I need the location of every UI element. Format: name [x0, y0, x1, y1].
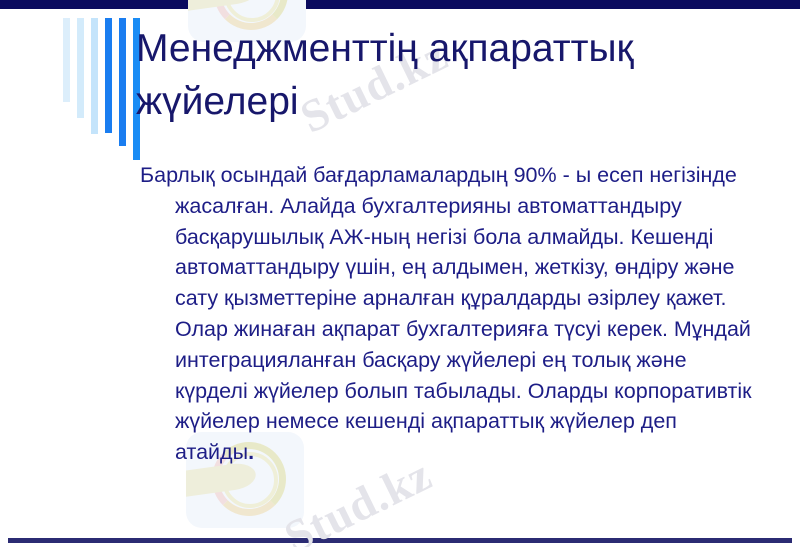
bottom-divider-rule: [8, 538, 792, 543]
body-paragraph: Барлық осындай бағдарламалардың 90% - ы …: [140, 160, 760, 468]
slide-canvas: Stud.kz Stud.kz Stud.kz Менеджменттің ақ…: [0, 0, 800, 547]
slide-body: Барлық осындай бағдарламалардың 90% - ы …: [140, 160, 760, 468]
decor-bar-3: [91, 18, 98, 134]
body-paragraph-text: Барлық осындай бағдарламалардың 90% - ы …: [140, 163, 752, 464]
title-line-1: Менеджменттің ақпараттық: [136, 22, 776, 75]
decor-bar-1: [63, 18, 70, 102]
decor-bar-4: [105, 18, 112, 133]
slide-title: Менеджменттің ақпараттық жүйелері: [136, 22, 776, 128]
decor-bar-2: [77, 18, 84, 118]
title-line-2: жүйелері: [136, 75, 776, 128]
top-divider-rule: [0, 0, 800, 9]
body-paragraph-terminal-period: .: [248, 440, 254, 464]
decor-bar-5: [119, 18, 126, 146]
